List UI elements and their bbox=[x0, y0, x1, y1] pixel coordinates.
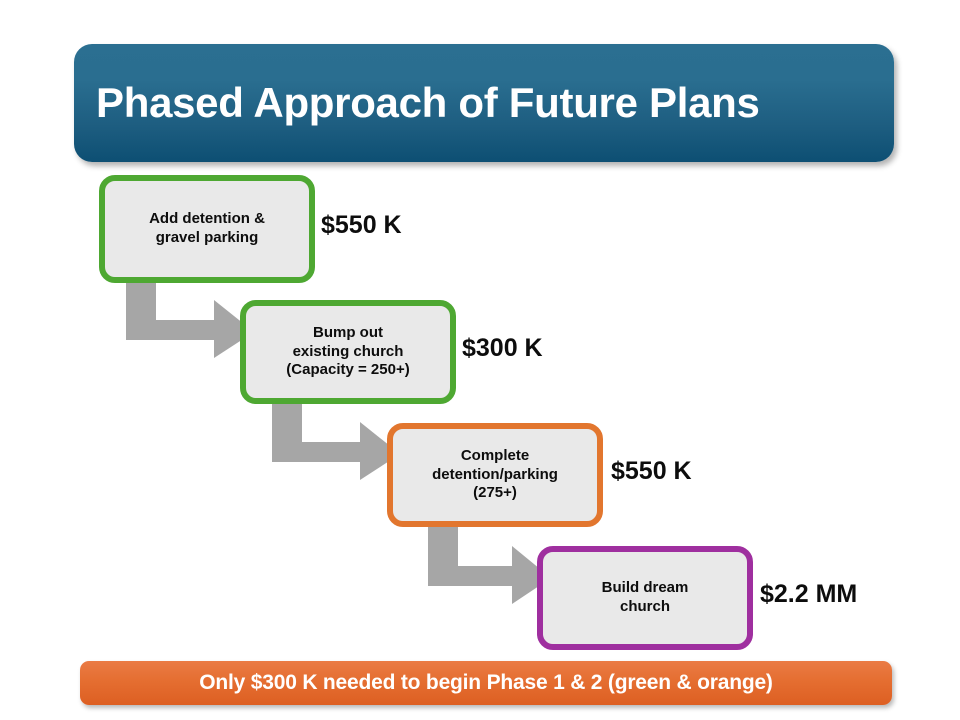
connector-3-4 bbox=[428, 524, 553, 604]
title-banner: Phased Approach of Future Plans bbox=[74, 44, 894, 162]
phase-box-4-label: Build dream church bbox=[594, 579, 697, 617]
phase-cost-1: $550 K bbox=[321, 211, 402, 240]
elbow-arrow-icon bbox=[272, 400, 402, 480]
phase-cost-3: $550 K bbox=[611, 457, 692, 486]
phase-box-2[interactable]: Bump out existing church (Capacity = 250… bbox=[240, 300, 456, 404]
phase-cost-4: $2.2 MM bbox=[760, 580, 857, 609]
elbow-arrow-icon bbox=[126, 278, 256, 358]
page-title: Phased Approach of Future Plans bbox=[96, 80, 760, 126]
connector-2-3 bbox=[272, 400, 402, 480]
connector-1-2 bbox=[126, 278, 256, 358]
slide-canvas: Phased Approach of Future Plans Add dete… bbox=[0, 0, 960, 720]
phase-box-1-label: Add detention & gravel parking bbox=[141, 210, 273, 248]
phase-box-4[interactable]: Build dream church bbox=[537, 546, 753, 650]
phase-box-1[interactable]: Add detention & gravel parking bbox=[99, 175, 315, 283]
phase-box-3[interactable]: Complete detention/parking (275+) bbox=[387, 423, 603, 527]
phase-cost-2: $300 K bbox=[462, 334, 543, 363]
footer-banner: Only $300 K needed to begin Phase 1 & 2 … bbox=[80, 661, 892, 705]
phase-box-2-label: Bump out existing church (Capacity = 250… bbox=[278, 324, 417, 380]
footer-banner-text: Only $300 K needed to begin Phase 1 & 2 … bbox=[199, 671, 772, 695]
elbow-arrow-icon bbox=[428, 524, 553, 604]
phase-box-3-label: Complete detention/parking (275+) bbox=[424, 447, 566, 503]
